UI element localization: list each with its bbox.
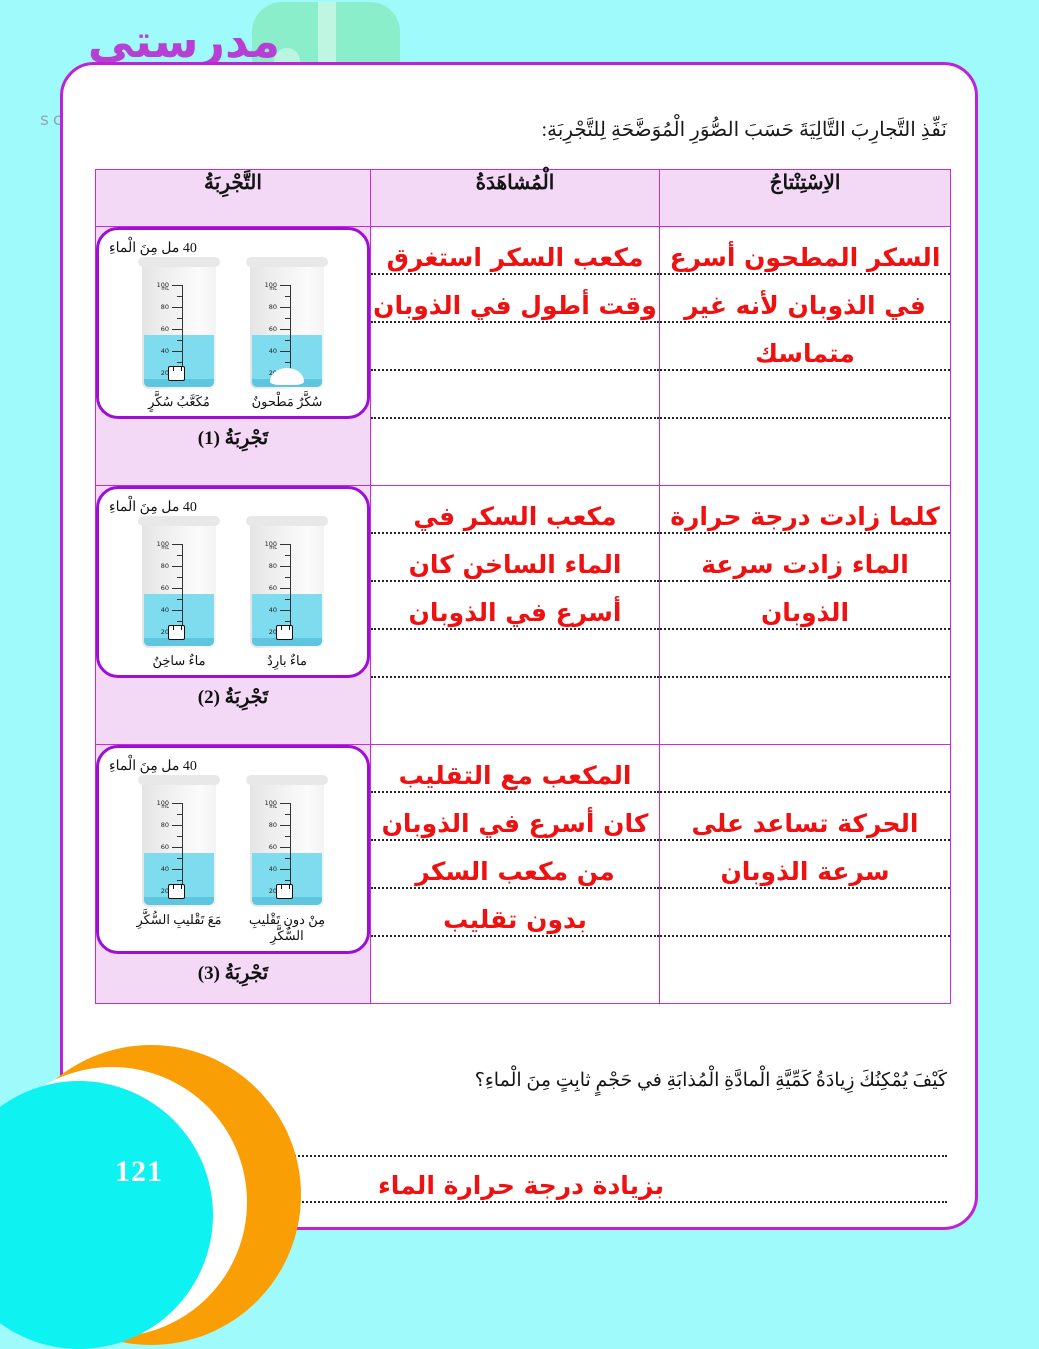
- scale-tick-label: 80: [269, 562, 277, 570]
- scale-tick-minor: [177, 858, 183, 859]
- experiment-picture-panel: 40 مل مِنَ الْماءِ100mL80604020مِنْ دونِ…: [96, 745, 370, 954]
- beaker-lip: [246, 775, 328, 785]
- header-experiment: التَّجْرِبَةُ: [96, 170, 371, 227]
- beaker-label: سُكَّرٌ مَطْحونٌ: [241, 394, 333, 410]
- scale-tick-label: 40: [269, 865, 277, 873]
- beaker-scale: 100mL80604020: [152, 803, 183, 891]
- volume-label: 40 مل مِنَ الْماءِ: [109, 240, 351, 257]
- scale-tick-minor: [285, 621, 291, 622]
- scale-tick-major: [172, 803, 183, 804]
- experiments-table: الاِسْتِنْتاجُ الْمُشاهَدَةُ التَّجْرِبَ…: [95, 169, 951, 1004]
- scale-tick-label: 60: [161, 325, 169, 333]
- brand-name: مدرستي: [40, 18, 280, 64]
- beaker-lip: [138, 257, 220, 267]
- answer-line[interactable]: [660, 889, 950, 937]
- beaker-label: مِنْ دونِ تَقْليبِ السُّكَّرِ: [241, 912, 333, 945]
- handwritten-answer: من مكعب السكر: [415, 859, 614, 887]
- handwritten-answer: مكعب السكر استغرق: [387, 245, 644, 273]
- scale-tick-minor: [177, 814, 183, 815]
- scale-tick-minor: [285, 880, 291, 881]
- beaker-scale: 100mL80604020: [260, 544, 291, 632]
- experiment-cell: 40 مل مِنَ الْماءِ100mL80604020ماءٌ بارِ…: [96, 486, 371, 745]
- scale-tick-minor: [177, 599, 183, 600]
- beaker-scale: 100mL80604020: [260, 803, 291, 891]
- beaker-pair: 100mL80604020ماءٌ بارِدٌ100mL80604020ماء…: [109, 520, 357, 669]
- handwritten-answer: وقت أطول في الذوبان: [373, 293, 657, 321]
- scale-tick-minor: [285, 814, 291, 815]
- experiment-picture-panel: 40 مل مِنَ الْماءِ100mL80604020سُكَّرٌ م…: [96, 227, 370, 419]
- scale-tick-major: [172, 610, 183, 611]
- sugar-cube-icon: [168, 884, 185, 899]
- experiment-picture-panel: 40 مل مِنَ الْماءِ100mL80604020ماءٌ بارِ…: [96, 486, 370, 678]
- handwritten-answer: سرعة الذوبان: [720, 859, 889, 887]
- scale-tick-major: [280, 544, 291, 545]
- answer-line[interactable]: مكعب السكر استغرق: [371, 227, 659, 275]
- scale-tick-label: 80: [161, 821, 169, 829]
- answer-line[interactable]: المكعب مع التقليب: [371, 745, 659, 793]
- sugar-cube-icon: [168, 625, 185, 640]
- conclusion-lines: الحركة تساعد علىسرعة الذوبان: [660, 745, 950, 937]
- handwritten-answer: بدون تقليب: [443, 907, 587, 935]
- answer-line[interactable]: [371, 371, 659, 419]
- scale-tick-major: [172, 544, 183, 545]
- answer-line[interactable]: [371, 323, 659, 371]
- beaker-unit: 100mL80604020ماءٌ بارِدٌ: [241, 520, 333, 669]
- scale-tick-label: 60: [269, 325, 277, 333]
- observation-lines: المكعب مع التقليبكان أسرع في الذوبانمن م…: [371, 745, 659, 937]
- scale-tick-minor: [177, 621, 183, 622]
- worksheet-page: نَفِّذِ التَّجارِبَ التَّالِيَةَ حَسَبَ …: [60, 62, 978, 1230]
- scale-tick-minor: [177, 340, 183, 341]
- scale-tick-minor: [177, 362, 183, 363]
- scale-tick-major: [280, 869, 291, 870]
- table-row: كلما زادت درجة حرارةالماء زادت سرعةالذوب…: [96, 486, 951, 745]
- scale-tick-label: 80: [269, 821, 277, 829]
- answer-line[interactable]: الماء الساخن كان: [371, 534, 659, 582]
- beaker-graphic: 100mL80604020: [142, 520, 216, 648]
- scale-tick-major: [172, 588, 183, 589]
- scale-tick-label: 80: [161, 303, 169, 311]
- scale-tick-label: 60: [269, 584, 277, 592]
- handwritten-answer: الماء الساخن كان: [409, 552, 622, 580]
- scale-unit-label: mL: [161, 545, 169, 551]
- beaker-unit: 100mL80604020مُكَعَّبُ سُكَّرٍ: [133, 261, 225, 410]
- scale-tick-minor: [177, 836, 183, 837]
- handwritten-answer: في الذوبان لأنه غير: [684, 293, 926, 321]
- conclusion-lines: السكر المطحون أسرعفي الذوبان لأنه غيرمتم…: [660, 227, 950, 419]
- answer-line[interactable]: الذوبان: [660, 582, 950, 630]
- scale-tick-major: [280, 307, 291, 308]
- beaker-graphic: 100mL80604020: [142, 261, 216, 389]
- scale-tick-label: 60: [161, 584, 169, 592]
- scale-tick-major: [280, 610, 291, 611]
- handwritten-answer: متماسك: [755, 341, 855, 369]
- scale-tick-label: 40: [161, 606, 169, 614]
- answer-line[interactable]: وقت أطول في الذوبان: [371, 275, 659, 323]
- scale-tick-label: 40: [161, 865, 169, 873]
- volume-label: 40 مل مِنَ الْماءِ: [109, 499, 351, 516]
- beaker-unit: 100mL80604020مِنْ دونِ تَقْليبِ السُّكَّ…: [241, 779, 333, 945]
- scale-tick-minor: [285, 858, 291, 859]
- intro-instruction: نَفِّذِ التَّجارِبَ التَّالِيَةَ حَسَبَ …: [387, 113, 947, 147]
- table-row: الحركة تساعد علىسرعة الذوبانالمكعب مع ال…: [96, 745, 951, 1004]
- observation-cell[interactable]: مكعب السكر استغرقوقت أطول في الذوبان: [371, 227, 660, 486]
- scale-tick-major: [172, 847, 183, 848]
- observation-lines: مكعب السكر فيالماء الساخن كانأسرع في الذ…: [371, 486, 659, 678]
- scale-tick-major: [172, 307, 183, 308]
- beaker-unit: 100mL80604020ماءٌ ساخِنٌ: [133, 520, 225, 669]
- conclusion-lines: كلما زادت درجة حرارةالماء زادت سرعةالذوب…: [660, 486, 950, 678]
- scale-tick-minor: [285, 362, 291, 363]
- answer-line[interactable]: الحركة تساعد على: [660, 793, 950, 841]
- table-header-row: الاِسْتِنْتاجُ الْمُشاهَدَةُ التَّجْرِبَ…: [96, 170, 951, 227]
- beaker-scale: 100mL80604020: [152, 544, 183, 632]
- conclusion-cell[interactable]: كلما زادت درجة حرارةالماء زادت سرعةالذوب…: [660, 486, 951, 745]
- scale-tick-minor: [177, 555, 183, 556]
- table-row: السكر المطحون أسرعفي الذوبان لأنه غيرمتم…: [96, 227, 951, 486]
- answer-line[interactable]: [660, 630, 950, 678]
- handwritten-answer: الماء زادت سرعة: [701, 552, 909, 580]
- scale-tick-label: 80: [161, 562, 169, 570]
- beaker-label: ماءٌ بارِدٌ: [241, 653, 333, 669]
- experiment-cell: 40 مل مِنَ الْماءِ100mL80604020سُكَّرٌ م…: [96, 227, 371, 486]
- scale-tick-major: [280, 566, 291, 567]
- handwritten-answer: أسرع في الذوبان: [409, 600, 622, 628]
- sugar-cube-icon: [168, 366, 185, 381]
- scale-tick-major: [172, 566, 183, 567]
- sugar-cube-icon: [276, 625, 293, 640]
- scale-tick-minor: [285, 555, 291, 556]
- beaker-lip: [138, 775, 220, 785]
- beaker-pair: 100mL80604020سُكَّرٌ مَطْحونٌ100mL806040…: [109, 261, 357, 410]
- observation-cell[interactable]: المكعب مع التقليبكان أسرع في الذوبانمن م…: [371, 745, 660, 1004]
- beaker-label: مَعَ تَقْليبِ السُّكَّرِ: [133, 912, 225, 928]
- answer-line[interactable]: [660, 745, 950, 793]
- answer-line[interactable]: بدون تقليب: [371, 889, 659, 937]
- scale-tick-label: 40: [269, 347, 277, 355]
- volume-label: 40 مل مِنَ الْماءِ: [109, 758, 351, 775]
- conclusion-cell[interactable]: السكر المطحون أسرعفي الذوبان لأنه غيرمتم…: [660, 227, 951, 486]
- beaker-graphic: 100mL80604020: [142, 779, 216, 907]
- answer-line[interactable]: كان أسرع في الذوبان: [371, 793, 659, 841]
- scale-tick-minor: [177, 296, 183, 297]
- answer-line[interactable]: كلما زادت درجة حرارة: [660, 486, 950, 534]
- scale-unit-label: mL: [269, 804, 277, 810]
- beaker-lip: [138, 516, 220, 526]
- answer-line[interactable]: متماسك: [660, 323, 950, 371]
- handwritten-answer: الذوبان: [761, 600, 849, 628]
- scale-tick-major: [172, 285, 183, 286]
- answer-line[interactable]: السكر المطحون أسرع: [660, 227, 950, 275]
- answer-line[interactable]: سرعة الذوبان: [660, 841, 950, 889]
- answer-line[interactable]: من مكعب السكر: [371, 841, 659, 889]
- scale-tick-minor: [285, 577, 291, 578]
- answer-line[interactable]: أسرع في الذوبان: [371, 582, 659, 630]
- scale-tick-minor: [285, 836, 291, 837]
- scale-tick-minor: [285, 318, 291, 319]
- beaker-label: مُكَعَّبُ سُكَّرٍ: [133, 394, 225, 410]
- answer-line[interactable]: [660, 371, 950, 419]
- experiment-caption: تَجْرِبَةُ (3): [96, 962, 370, 985]
- scale-tick-minor: [177, 880, 183, 881]
- scale-unit-label: mL: [161, 286, 169, 292]
- beaker-label: ماءٌ ساخِنٌ: [133, 653, 225, 669]
- answer-line[interactable]: في الذوبان لأنه غير: [660, 275, 950, 323]
- beaker-pair: 100mL80604020مِنْ دونِ تَقْليبِ السُّكَّ…: [109, 779, 357, 945]
- scale-tick-label: 40: [269, 606, 277, 614]
- handwritten-answer: كلما زادت درجة حرارة: [670, 504, 940, 532]
- handwritten-answer: السكر المطحون أسرع: [670, 245, 941, 273]
- experiment-cell: 40 مل مِنَ الْماءِ100mL80604020مِنْ دونِ…: [96, 745, 371, 1004]
- header-conclusion: الاِسْتِنْتاجُ: [660, 170, 951, 227]
- scale-tick-label: 40: [161, 347, 169, 355]
- scale-tick-minor: [285, 296, 291, 297]
- observation-lines: مكعب السكر استغرقوقت أطول في الذوبان: [371, 227, 659, 419]
- beaker-graphic: 100mL80604020: [250, 261, 324, 389]
- scale-tick-major: [172, 329, 183, 330]
- table-body: السكر المطحون أسرعفي الذوبان لأنه غيرمتم…: [96, 227, 951, 1004]
- beaker-graphic: 100mL80604020: [250, 520, 324, 648]
- scale-tick-minor: [177, 577, 183, 578]
- answer-line[interactable]: [371, 630, 659, 678]
- beaker-unit: 100mL80604020مَعَ تَقْليبِ السُّكَّرِ: [133, 779, 225, 945]
- scale-tick-label: 60: [269, 843, 277, 851]
- scale-unit-label: mL: [269, 286, 277, 292]
- scale-unit-label: mL: [269, 545, 277, 551]
- observation-cell[interactable]: مكعب السكر فيالماء الساخن كانأسرع في الذ…: [371, 486, 660, 745]
- scale-tick-major: [280, 285, 291, 286]
- scale-tick-minor: [285, 340, 291, 341]
- handwritten-answer: كان أسرع في الذوبان: [382, 811, 649, 839]
- scale-unit-label: mL: [161, 804, 169, 810]
- conclusion-cell[interactable]: الحركة تساعد علىسرعة الذوبان: [660, 745, 951, 1004]
- beaker-scale: 100mL80604020: [260, 285, 291, 373]
- scale-tick-major: [172, 825, 183, 826]
- handwritten-answer: المكعب مع التقليب: [399, 763, 632, 791]
- scale-tick-major: [172, 351, 183, 352]
- scale-tick-minor: [177, 318, 183, 319]
- scale-tick-major: [280, 351, 291, 352]
- sugar-cube-icon: [276, 884, 293, 899]
- handwritten-answer: مكعب السكر في: [413, 504, 616, 532]
- beaker-lip: [246, 516, 328, 526]
- scale-tick-major: [172, 869, 183, 870]
- beaker-unit: 100mL80604020سُكَّرٌ مَطْحونٌ: [241, 261, 333, 410]
- page-number: 121: [115, 1155, 163, 1189]
- beaker-scale: 100mL80604020: [152, 285, 183, 373]
- scale-tick-major: [280, 847, 291, 848]
- handwritten-answer: الحركة تساعد على: [692, 811, 919, 839]
- handwritten-answer: بزيادة درجة حرارة الماء: [378, 1173, 664, 1201]
- scale-tick-major: [280, 588, 291, 589]
- scale-tick-major: [280, 329, 291, 330]
- scale-tick-major: [280, 803, 291, 804]
- answer-line[interactable]: الماء زادت سرعة: [660, 534, 950, 582]
- header-observation: الْمُشاهَدَةُ: [371, 170, 660, 227]
- scale-tick-minor: [285, 599, 291, 600]
- scale-tick-major: [280, 825, 291, 826]
- beaker-lip: [246, 257, 328, 267]
- scale-tick-label: 80: [269, 303, 277, 311]
- experiment-caption: تَجْرِبَةُ (2): [96, 686, 370, 709]
- beaker-graphic: 100mL80604020: [250, 779, 324, 907]
- experiment-caption: تَجْرِبَةُ (1): [96, 427, 370, 450]
- answer-line[interactable]: مكعب السكر في: [371, 486, 659, 534]
- scale-tick-label: 60: [161, 843, 169, 851]
